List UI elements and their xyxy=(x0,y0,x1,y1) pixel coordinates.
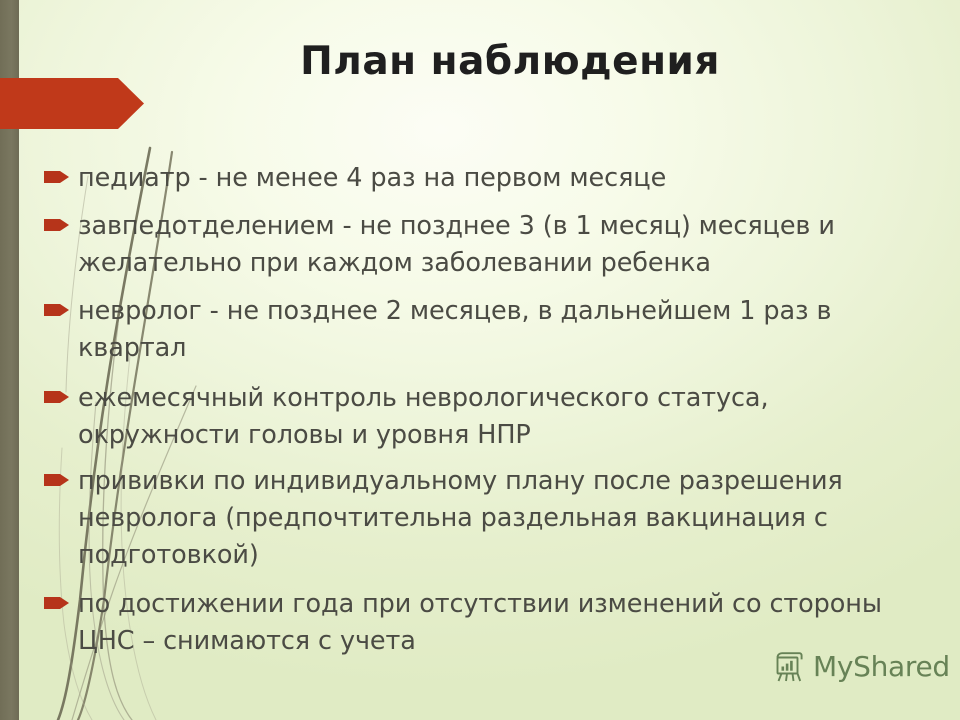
red-arrow-bullet-icon xyxy=(44,302,69,318)
page-title: План наблюдения xyxy=(180,38,840,86)
red-arrow-bullet-icon xyxy=(44,217,69,233)
list-item-text: по достижении года при отсутствии измене… xyxy=(78,586,924,660)
presentation-slide: План наблюдения педиатр - не менее 4 раз… xyxy=(0,0,960,720)
list-item-text: прививки по индивидуальному плану после … xyxy=(78,463,924,574)
list-item-text: педиатр - не менее 4 раз на первом месяц… xyxy=(78,160,924,197)
list-item-text: ежемесячный контроль неврологического ст… xyxy=(78,380,924,454)
red-arrow-bullet-icon xyxy=(44,472,69,488)
red-arrow-bullet-icon xyxy=(44,389,69,405)
myshared-watermark: MyShared xyxy=(772,650,950,684)
arrow-banner xyxy=(0,78,144,129)
bullet-list: педиатр - не менее 4 раз на первом месяц… xyxy=(44,160,924,669)
watermark-label: MyShared xyxy=(813,652,950,682)
list-item-text: завпедотделением - не позднее 3 (в 1 мес… xyxy=(78,208,924,282)
list-item: завпедотделением - не позднее 3 (в 1 мес… xyxy=(44,208,924,282)
list-item: прививки по индивидуальному плану после … xyxy=(44,463,924,574)
flipchart-bar-chart-icon xyxy=(772,650,806,684)
red-arrow-bullet-icon xyxy=(44,595,69,611)
list-item: по достижении года при отсутствии измене… xyxy=(44,586,924,660)
list-item: педиатр - не менее 4 раз на первом месяц… xyxy=(44,160,924,197)
list-item-text: невролог - не позднее 2 месяцев, в дальн… xyxy=(78,293,924,367)
red-arrow-bullet-icon xyxy=(44,169,69,185)
list-item: ежемесячный контроль неврологического ст… xyxy=(44,380,924,454)
list-item: невролог - не позднее 2 месяцев, в дальн… xyxy=(44,293,924,367)
